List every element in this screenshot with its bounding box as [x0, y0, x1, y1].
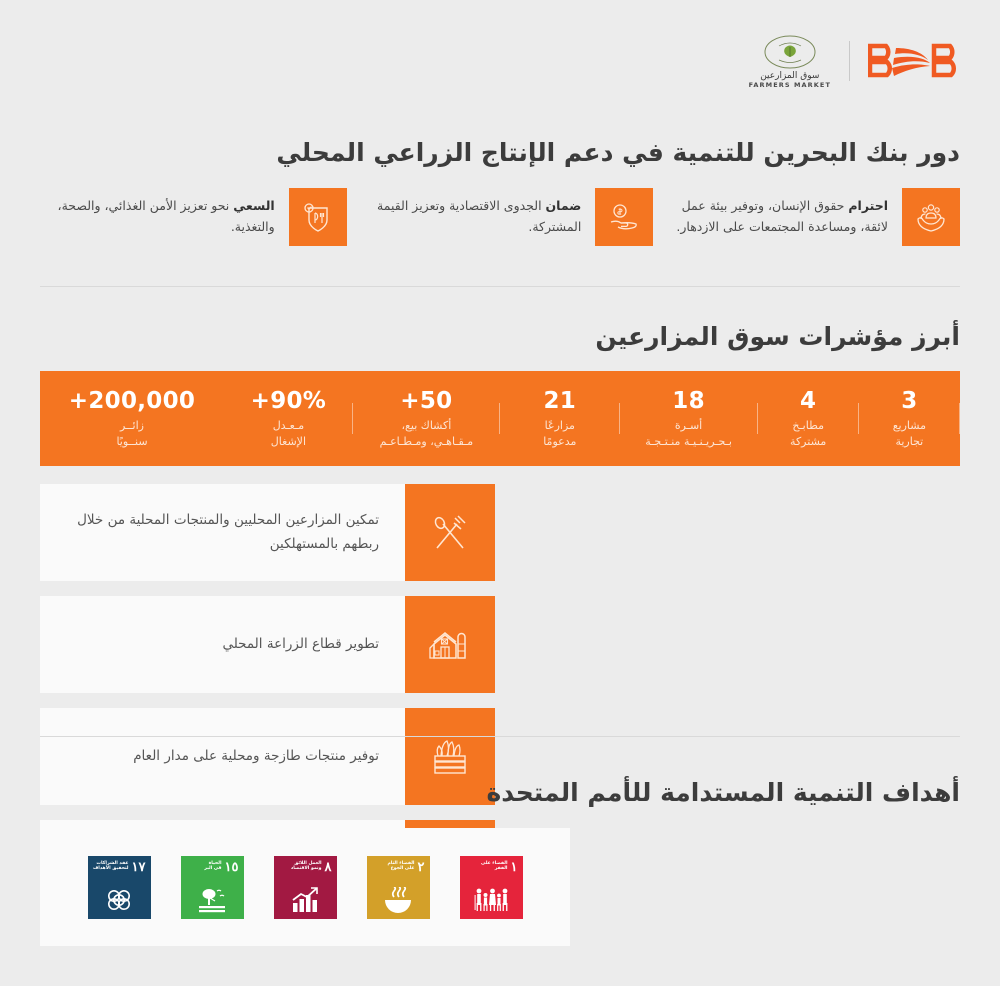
steaming-bowl-icon [367, 883, 430, 913]
stat-value: 90%+ [230, 387, 347, 416]
sdg-header: ١ القضاء على الفقر [465, 861, 518, 874]
sdg-title: أهداف التنمية المستدامة للأمم المتحدة [0, 778, 960, 807]
sdg-goal-2: ٢ القضاء التام على الجوع [367, 856, 430, 919]
sdg-number: ١٧ [132, 861, 146, 874]
logo-bar: سوق المزارعين FARMERS MARKET [0, 30, 1000, 92]
sdg-goal-8: ٨ العمل اللائق ونمو الاقتصاد [274, 856, 337, 919]
stat-kitchens: 4 مطابـخ مشتركة [758, 387, 859, 450]
stat-businesses: 3 مشاريع تجارية [859, 387, 960, 450]
stat-value: 4 [764, 387, 853, 416]
tree-birds-icon [181, 883, 244, 913]
sdg-header: ١٧ عقد الشراكات لتحقيق الأهداف [93, 861, 146, 874]
pillar-lead: السعي [233, 198, 274, 213]
card-text: تطوير قطاع الزراعة المحلي [40, 596, 405, 693]
partnership-circles-icon [88, 883, 151, 913]
pillars-row: السعي نحو تعزيز الأمن الغذائي، والصحة، و… [40, 186, 960, 248]
stat-farmers: 21 مزارعًا مدعومًا [500, 387, 620, 450]
farmers-market-ring-icon [763, 33, 817, 71]
card-develop-agriculture: تطوير قطاع الزراعة المحلي [40, 596, 495, 693]
divider-top [40, 286, 960, 287]
hands-people-icon [902, 188, 960, 246]
logo-divider [849, 41, 850, 81]
pillar-food-security: السعي نحو تعزيز الأمن الغذائي، والصحة، و… [40, 186, 347, 248]
family-group-icon [460, 883, 523, 913]
sdg-header: ١٥ الحياة في البر [186, 861, 239, 874]
stat-value: 50+ [359, 387, 494, 416]
pillar-lead: ضمان [546, 198, 582, 213]
stat-value: 3 [865, 387, 954, 416]
sdg-name: عقد الشراكات لتحقيق الأهداف [93, 861, 129, 872]
stat-value: 200,000+ [46, 387, 218, 416]
main-title: دور بنك البحرين للتنمية في دعم الإنتاج ا… [0, 138, 960, 167]
shield-cutlery-icon [289, 188, 347, 246]
infographic-page: سوق المزارعين FARMERS MARKET دور بنك الب… [0, 0, 1000, 986]
card-empower-farmers: تمكين المزارعين المحليين والمنتجات المحل… [40, 484, 495, 581]
stats-title: أبرز مؤشرات سوق المزارعين [0, 322, 960, 351]
stat-value: 18 [626, 387, 752, 416]
sdg-number: ١٥ [225, 861, 239, 874]
sdg-name: القضاء على الفقر [481, 861, 507, 872]
sdg-name: العمل اللائق ونمو الاقتصاد [291, 861, 322, 872]
stat-label: أسـرة بـحـريـنـيـة منـتـجـة [626, 418, 752, 450]
pillar-economic-viability: ضمان الجدوى الاقتصادية وتعزيز القيمة الم… [347, 186, 654, 248]
sdg-goal-17: ١٧ عقد الشراكات لتحقيق الأهداف [88, 856, 151, 919]
farmers-market-english: FARMERS MARKET [749, 82, 831, 90]
stat-families: 18 أسـرة بـحـريـنـيـة منـتـجـة [620, 387, 758, 450]
sdg-header: ٢ القضاء التام على الجوع [372, 861, 425, 874]
sdg-number: ٢ [418, 861, 425, 874]
stat-kiosks: 50+ أكشاك بيع، مـقـاهـي، ومـطـاعـم [353, 387, 500, 450]
stats-bar: 200,000+ زائــر سنــويًا 90%+ مـعـدل الإ… [40, 371, 960, 466]
growth-chart-icon [274, 883, 337, 913]
divider-bottom [40, 736, 960, 737]
stat-label: زائــر سنــويًا [46, 418, 218, 450]
pillar-lead: احترام [848, 198, 888, 213]
stat-label: أكشاك بيع، مـقـاهـي، ومـطـاعـم [359, 418, 494, 450]
stat-value: 21 [506, 387, 614, 416]
stat-label: مزارعًا مدعومًا [506, 418, 614, 450]
farmers-market-logo: سوق المزارعين FARMERS MARKET [749, 33, 831, 90]
bdb-logo [868, 39, 960, 83]
farmers-market-arabic: سوق المزارعين [760, 72, 819, 81]
sdg-number: ١ [511, 861, 518, 874]
sdg-header: ٨ العمل اللائق ونمو الاقتصاد [279, 861, 332, 874]
sdg-name: الحياة في البر [204, 861, 221, 872]
pillar-text: احترام حقوق الإنسان، وتوفير بيئة عمل لائ… [653, 196, 888, 237]
pillar-text: ضمان الجدوى الاقتصادية وتعزيز القيمة الم… [347, 196, 582, 237]
sdg-goal-1: ١ القضاء على الفقر [460, 856, 523, 919]
barn-icon [405, 596, 495, 693]
hand-coin-icon [595, 188, 653, 246]
sdg-goal-15: ١٥ الحياة في البر [181, 856, 244, 919]
pillar-human-rights: احترام حقوق الإنسان، وتوفير بيئة عمل لائ… [653, 186, 960, 248]
sdg-panel: ١٧ عقد الشراكات لتحقيق الأهداف ١٥ الحياة… [40, 828, 570, 946]
stat-occupancy: 90%+ مـعـدل الإشغال [224, 387, 353, 450]
stat-visitors: 200,000+ زائــر سنــويًا [40, 387, 224, 450]
crossed-fork-spoon-icon [405, 484, 495, 581]
card-text: تمكين المزارعين المحليين والمنتجات المحل… [40, 484, 405, 581]
stat-label: مـعـدل الإشغال [230, 418, 347, 450]
stat-label: مشاريع تجارية [865, 418, 954, 450]
stat-label: مطابـخ مشتركة [764, 418, 853, 450]
sdg-name: القضاء التام على الجوع [387, 861, 414, 872]
pillar-text: السعي نحو تعزيز الأمن الغذائي، والصحة، و… [40, 196, 275, 237]
sdg-number: ٨ [325, 861, 332, 874]
